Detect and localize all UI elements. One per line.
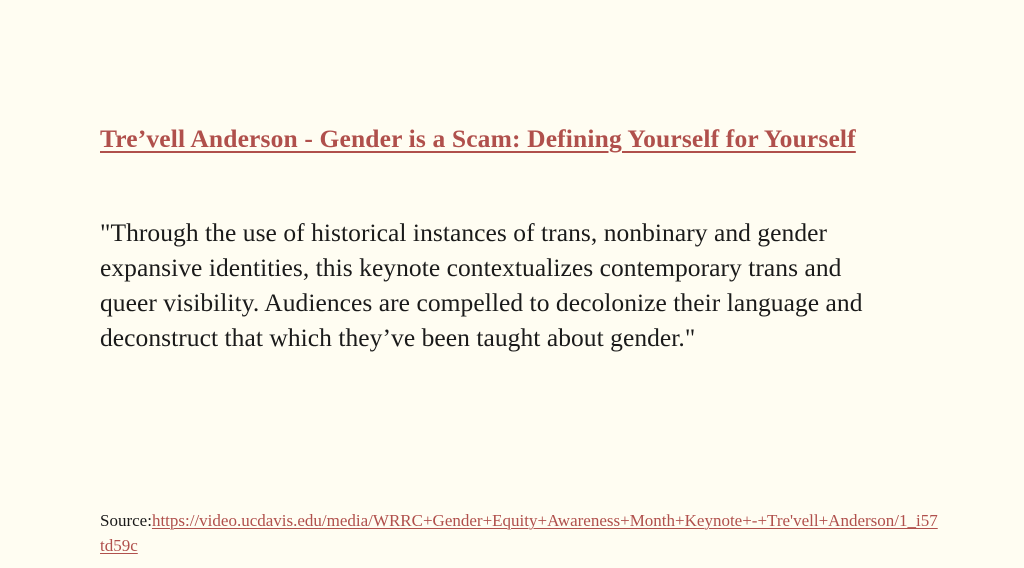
slide-canvas: Tre’vell Anderson - Gender is a Scam: De… — [0, 0, 1024, 568]
source-url-line-1: https://video.ucdavis.edu/media/WRRC+Gen… — [152, 511, 705, 530]
source-url-link[interactable]: https://video.ucdavis.edu/media/WRRC+Gen… — [100, 511, 938, 555]
quote-line: "Through the use of historical instances… — [100, 215, 930, 250]
quote-line: deconstruct that which they’ve been taug… — [100, 320, 930, 355]
title-block: Tre’vell Anderson - Gender is a Scam: De… — [100, 124, 930, 154]
quote-line: expansive identities, this keynote conte… — [100, 250, 930, 285]
source-label: Source: — [100, 511, 152, 530]
page-title: Tre’vell Anderson - Gender is a Scam: De… — [100, 124, 930, 154]
quote-line: queer visibility. Audiences are compelle… — [100, 285, 930, 320]
quote-block: "Through the use of historical instances… — [100, 215, 930, 355]
source-block: Source:https://video.ucdavis.edu/media/W… — [100, 508, 940, 558]
